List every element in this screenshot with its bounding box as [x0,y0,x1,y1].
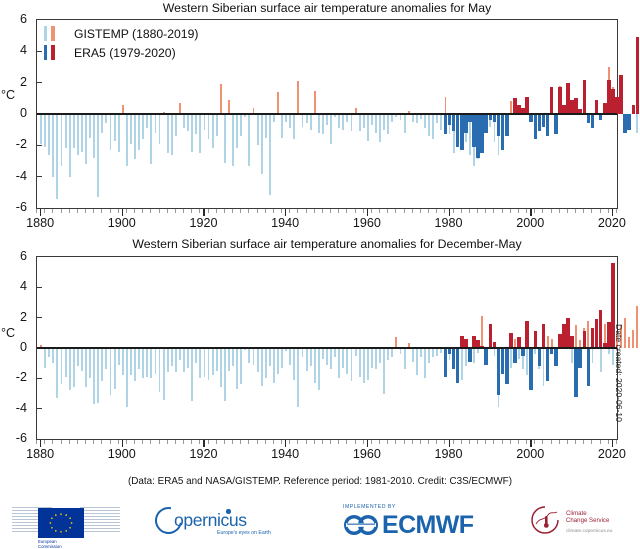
chart-bar [383,114,385,130]
chart-bar [187,114,189,131]
chart-bar [480,114,484,153]
chart-bar [105,348,107,369]
copernicus-logo: opernicus Europe's eyes on Earth [155,507,295,539]
x-axis-major-tick [203,209,204,216]
chart-bar [179,348,181,360]
x-axis-minor-tick [616,209,617,213]
x-axis-minor-tick [69,440,70,444]
chart-bar [134,114,136,159]
chart-bar [546,348,550,381]
x-axis-minor-tick [526,209,527,213]
x-axis-minor-tick [444,440,445,444]
y-axis-tick-label: 0 [20,340,27,354]
c3s-line-1: Climate [566,510,587,517]
x-axis-tick-label: 1940 [271,447,299,461]
chart-bar [65,114,67,148]
chart-bar [623,114,627,133]
chart-bar [400,114,402,120]
y-axis-tick-label: 6 [20,249,27,263]
copernicus-tagline: Europe's eyes on Earth [217,530,271,536]
chart-bar [607,322,611,348]
chart-bar [383,348,385,394]
chart-bar [297,348,299,407]
chart-bar [138,114,140,150]
chart-bar [534,331,538,348]
chart-bar [570,100,574,114]
chart-bar [97,114,99,197]
chart-bar [183,114,185,128]
chart-bar [310,348,312,366]
chart-bar [632,105,636,114]
x-axis-major-tick [449,440,450,447]
x-axis-minor-tick [289,440,290,444]
x-axis-major-tick [530,440,531,447]
x-axis-minor-tick [224,440,225,444]
x-axis-minor-tick [591,440,592,444]
chart-bar [460,336,464,348]
x-axis-minor-tick [395,440,396,444]
chart-bar [159,114,161,144]
x-axis-minor-tick [77,440,78,444]
x-axis-minor-tick [551,209,552,213]
chart-bar [379,348,381,363]
ec-line-2: Commission [38,544,62,549]
panel-december-may: Western Siberian surface air temperature… [0,232,640,494]
chart-bar [171,348,173,366]
chart-bar [624,318,626,348]
chart-bar [302,348,304,357]
footer-logos: European Commission opernicus Europe's e… [0,497,640,549]
x-axis-minor-tick [591,209,592,213]
x-axis-minor-tick [306,209,307,213]
x-axis-minor-tick [502,440,503,444]
chart-bar [575,325,577,348]
x-axis-minor-tick [436,440,437,444]
legend-label-gistemp: GISTEMP (1880-2019) [74,27,198,41]
chart-bar [445,97,447,114]
x-axis-minor-tick [600,440,601,444]
chart-bar [93,348,95,404]
chart-bar [155,348,157,374]
chart-bar [628,337,630,348]
x-axis-minor-tick [355,440,356,444]
chart-bar [367,114,369,141]
chart-bar [232,114,234,166]
chart-bar [257,114,259,145]
chart-bar [269,348,271,366]
chart-bar [56,114,58,199]
x-axis-tick-label: 1900 [108,216,136,230]
x-axis-minor-tick [461,209,462,213]
chart-bar [412,114,414,122]
chart-bar [61,114,63,166]
x-axis-minor-tick [551,440,552,444]
x-axis-minor-tick [232,209,233,213]
x-axis-minor-tick [61,440,62,444]
x-axis-tick-label: 1980 [435,216,463,230]
x-axis-minor-tick [77,209,78,213]
chart-bar [391,114,393,122]
chart-bar [142,114,144,139]
chart-bar [476,114,480,158]
chart-bar [375,348,377,369]
chart-bar [118,114,120,152]
chart-bar [513,98,517,114]
chart-bar [636,37,640,114]
chart-bar [273,348,275,383]
chart-bar [220,348,222,387]
chart-bar [236,114,238,148]
legend-swatch-warm-icon [51,26,54,41]
chart-bar [69,348,71,390]
x-axis-minor-tick [534,209,535,213]
chart-bar [77,114,79,155]
chart-bar [615,97,619,114]
chart-bar [81,114,83,152]
panel-december-may-plot-area [36,256,618,440]
chart-bar [257,348,259,372]
chart-bar [212,114,214,148]
chart-bar [566,318,570,348]
chart-bar [493,114,497,122]
chart-bar [636,306,638,348]
chart-bar [468,114,472,122]
chart-bar [118,348,120,365]
chart-bar [130,114,132,144]
x-axis-minor-tick [191,209,192,213]
x-axis-tick-label: 2020 [598,447,626,461]
x-axis-minor-tick [477,440,478,444]
chart-bar [489,324,493,348]
ecmwf-logo: IMPLEMENTED BY ECMWF [342,504,517,542]
x-axis-minor-tick [240,440,241,444]
chart-bar [472,336,476,348]
chart-bar [600,348,602,372]
chart-bar [126,114,128,166]
x-axis-minor-tick [175,440,176,444]
chart-bar [73,114,75,148]
x-axis-minor-tick [363,209,364,213]
x-axis-minor-tick [469,440,470,444]
x-axis-minor-tick [330,209,331,213]
figure-caption: (Data: ERA5 and NASA/GISTEMP. Reference … [0,476,640,487]
chart-bar [48,114,50,155]
eu-stars-icon [38,508,84,538]
chart-bar [208,348,210,380]
chart-bar [253,348,255,365]
y-axis-tick-mark [37,145,42,146]
x-axis-minor-tick [412,440,413,444]
chart-bar [146,348,148,377]
chart-bar [89,348,91,378]
x-axis-minor-tick [420,440,421,444]
x-axis-minor-tick [330,440,331,444]
chart-bar [432,114,434,139]
x-axis-tick-label: 1960 [353,447,381,461]
x-axis-minor-tick [371,440,372,444]
chart-bar [48,348,50,357]
chart-bar [122,348,124,375]
x-axis-minor-tick [93,440,94,444]
x-axis-minor-tick [69,209,70,213]
chart-bar [510,101,512,114]
chart-bar [269,114,271,195]
chart-bar [195,348,197,363]
x-axis-major-tick [612,440,613,447]
chart-bar [497,114,501,136]
chart-bar [330,114,332,144]
x-axis-minor-tick [199,440,200,444]
legend-item-gistemp: GISTEMP (1880-2019) [44,24,198,43]
chart-bar [65,348,67,377]
x-axis-minor-tick [583,209,584,213]
chart-bar [183,348,185,372]
chart-bar [538,348,542,366]
chart-bar [44,348,46,368]
x-axis-tick-label: 2000 [516,216,544,230]
chart-bar [595,319,599,348]
chart-bar [444,348,448,377]
chart-bar [440,114,442,130]
x-axis-minor-tick [306,440,307,444]
x-axis-major-tick [122,440,123,447]
x-axis-minor-tick [85,209,86,213]
chart-bar [448,348,452,354]
chart-bar [542,324,546,348]
chart-bar [375,114,377,133]
chart-bar [318,114,320,133]
chart-bar [636,114,638,133]
x-axis-minor-tick [338,440,339,444]
x-axis-minor-tick [600,209,601,213]
chart-bar [342,348,344,368]
chart-bar [285,114,287,122]
chart-bar [420,348,422,357]
y-axis-tick-mark [37,317,42,318]
chart-bar [436,114,438,123]
chart-bar [187,348,189,368]
chart-bar [248,348,250,363]
chart-bar [61,348,63,384]
x-axis-minor-tick [355,209,356,213]
x-axis-minor-tick [297,440,298,444]
chart-bar [550,348,554,354]
chart-bar [627,114,631,130]
chart-bar [424,348,426,378]
chart-bar [199,114,201,153]
copernicus-dot-icon [226,509,231,514]
x-axis-minor-tick [167,440,168,444]
x-axis-minor-tick [510,440,511,444]
chart-bar [146,114,148,128]
panel-december-may-xaxis: 18801900192019401960198020002020 [36,440,618,447]
chart-bar [175,114,177,136]
x-axis-minor-tick [338,209,339,213]
chart-bar [310,114,312,130]
x-axis-minor-tick [36,440,37,444]
y-axis-tick-label: -4 [16,169,27,183]
x-axis-minor-tick [126,440,127,444]
x-axis-minor-tick [93,209,94,213]
copernicus-wordmark: opernicus [174,510,247,531]
x-axis-major-tick [122,209,123,216]
x-axis-tick-label: 1980 [435,447,463,461]
chart-bar [428,114,430,136]
chart-bar [248,114,250,166]
x-axis-major-tick [367,209,368,216]
x-axis-minor-tick [191,440,192,444]
x-axis-minor-tick [240,209,241,213]
x-axis-minor-tick [371,209,372,213]
chart-bar [359,114,361,131]
chart-bar [525,97,529,114]
x-axis-minor-tick [387,209,388,213]
x-axis-minor-tick [36,209,37,213]
x-axis-minor-tick [142,209,143,213]
chart-bar [607,80,611,114]
x-axis-major-tick [285,209,286,216]
chart-bar [240,348,242,384]
x-axis-minor-tick [493,440,494,444]
chart-bar [224,114,226,163]
chart-bar [518,348,520,359]
x-axis-minor-tick [150,209,151,213]
legend-item-era5: ERA5 (1979-2020) [44,43,198,62]
chart-bar [338,348,340,378]
x-axis-minor-tick [110,440,111,444]
chart-bar [481,316,483,348]
x-axis-minor-tick [208,440,209,444]
chart-bar [228,100,230,114]
chart-bar [484,348,488,365]
climate-anomaly-figure: Western Siberian surface air temperature… [0,0,640,549]
chart-bar [351,348,353,381]
x-axis-minor-tick [436,209,437,213]
chart-bar [302,114,304,127]
x-axis-minor-tick [183,440,184,444]
c3s-line-2: Change Service [566,517,609,524]
chart-bar [416,114,418,123]
chart-bar [355,348,357,356]
chart-bar [236,348,238,389]
x-axis-minor-tick [101,440,102,444]
panel-may: Western Siberian surface air temperature… [0,0,640,232]
chart-bar [191,114,193,152]
european-commission-label: European Commission [38,539,62,549]
chart-bar [404,114,406,133]
x-axis-minor-tick [199,209,200,213]
chart-bar [387,114,389,134]
chart-bar [306,114,308,123]
x-axis-minor-tick [101,209,102,213]
chart-bar [52,348,54,363]
x-axis-major-tick [367,440,368,447]
x-axis-minor-tick [453,209,454,213]
chart-bar [322,114,324,134]
chart-bar [432,348,434,357]
chart-bar [464,114,468,133]
y-axis-tick-label: 0 [20,106,27,120]
chart-bar [326,114,328,125]
y-axis-tick-label: 2 [20,75,27,89]
x-axis-minor-tick [518,209,519,213]
x-axis-minor-tick [257,440,258,444]
y-axis-tick-mark [37,408,42,409]
c3s-thermometer-icon [530,505,562,535]
x-axis-tick-label: 1960 [353,216,381,230]
chart-bar [558,334,562,348]
chart-bar [566,83,570,114]
chart-bar [428,348,430,363]
chart-bar [167,348,169,372]
chart-bar [562,324,566,348]
chart-bar [574,348,578,397]
x-axis-minor-tick [608,440,609,444]
chart-bar [204,348,206,377]
chart-bar [546,114,550,136]
chart-bar [326,348,328,365]
x-axis-tick-label: 2000 [516,447,544,461]
chart-bar [595,100,599,114]
chart-bar [456,114,460,147]
chart-bar [538,114,542,131]
chart-bar [52,114,54,177]
chart-bar [101,348,103,381]
x-axis-minor-tick [224,209,225,213]
chart-bar [314,348,316,383]
chart-bar [306,348,308,371]
x-axis-minor-tick [485,440,486,444]
chart-bar [484,114,488,133]
chart-bar [436,348,438,356]
y-axis-tick-label: -2 [16,137,27,151]
panel-may-title: Western Siberian surface air temperature… [36,1,618,15]
c3s-name-label: Climate Change Service [566,510,609,525]
chart-bar [232,348,234,366]
chart-bar [505,114,509,136]
y-axis-tick-label: -6 [16,431,27,445]
chart-bar [587,348,591,386]
chart-bar [277,348,279,374]
y-axis-tick-label: 6 [20,12,27,26]
x-axis-minor-tick [118,440,119,444]
chart-bar [534,348,536,354]
chart-bar [591,328,595,348]
chart-bar [570,336,574,348]
chart-bar [611,89,615,114]
chart-bar [513,348,517,363]
chart-bar [171,114,173,155]
chart-bar [126,348,128,407]
panel-may-ylabel: °C [1,88,15,102]
chart-bar [273,114,275,122]
x-axis-minor-tick [150,440,151,444]
chart-bar [289,348,291,365]
chart-bar [167,114,169,153]
x-axis-major-tick [40,209,41,216]
chart-bar [297,81,299,114]
x-axis-minor-tick [534,440,535,444]
x-axis-major-tick [203,440,204,447]
chart-bar [97,348,99,403]
x-axis-major-tick [530,209,531,216]
chart-bar [114,114,116,141]
chart-bar [93,114,95,158]
x-axis-minor-tick [265,440,266,444]
chart-bar [404,348,406,369]
chart-bar [216,348,218,371]
y-axis-tick-mark [37,51,42,52]
